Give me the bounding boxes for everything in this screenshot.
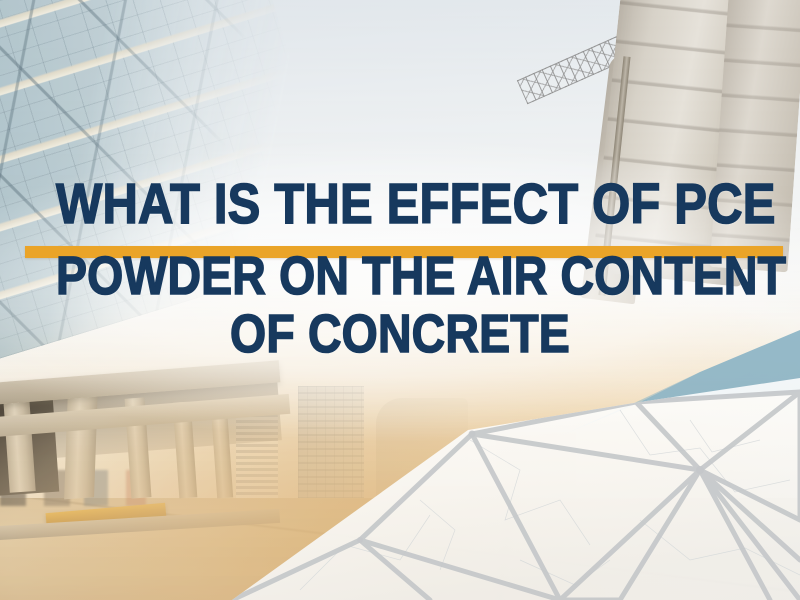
hero-banner: WHAT IS THE EFFECT OF PCE POWDER ON THE … bbox=[0, 0, 800, 600]
headline-line-2: POWDER ON THE AIR CONTENT bbox=[56, 249, 744, 303]
headline-line-3: OF CONCRETE bbox=[56, 307, 744, 361]
headline-block: WHAT IS THE EFFECT OF PCE POWDER ON THE … bbox=[0, 176, 800, 361]
headline-line-1: WHAT IS THE EFFECT OF PCE bbox=[56, 176, 744, 233]
